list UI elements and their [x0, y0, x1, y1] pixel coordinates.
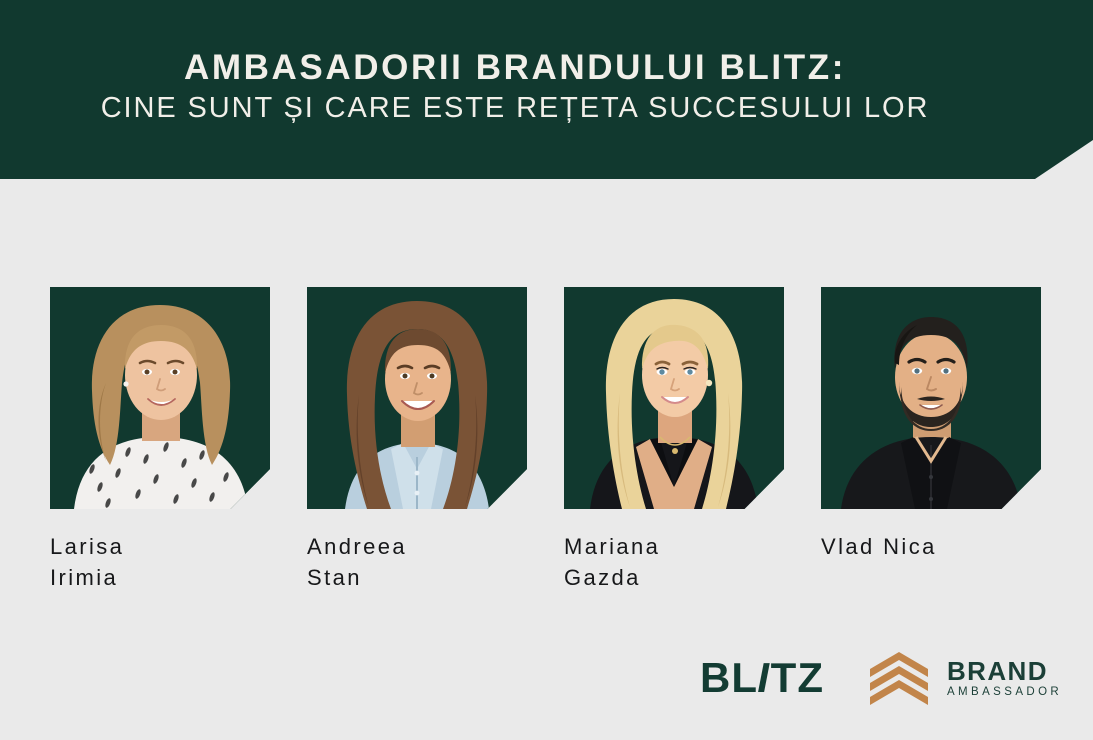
portrait-illustration-icon	[821, 287, 1041, 509]
portrait-illustration-icon	[50, 287, 270, 509]
portrait-illustration-icon	[564, 287, 784, 509]
ambassador-card-larisa-irimia[interactable]: Larisa Irimia	[50, 287, 270, 593]
blitz-logo[interactable]: BL I TZ	[700, 657, 824, 699]
ambassador-card-mariana-gazda[interactable]: Mariana Gazda	[564, 287, 784, 593]
ambassador-photo-andreea-stan	[307, 287, 527, 509]
ambassador-photo-vlad-nica	[821, 287, 1041, 509]
footer-logo-group: BL I TZ BRAND AMBASSADOR	[700, 650, 1062, 706]
ambassador-card-vlad-nica[interactable]: Vlad Nica	[821, 287, 1041, 593]
brand-ambassador-line-2: AMBASSADOR	[947, 687, 1062, 699]
page-subtitle: CINE SUNT ȘI CARE ESTE REȚETA SUCCESULUI…	[101, 94, 930, 123]
header-text-block: AMBASADORII BRANDULUI BLITZ: CINE SUNT Ș…	[0, 0, 1030, 179]
ambassador-card-andreea-stan[interactable]: Andreea Stan	[307, 287, 527, 593]
brand-ambassador-wordmark: BRAND AMBASSADOR	[947, 658, 1062, 699]
brand-ambassador-logo[interactable]: BRAND AMBASSADOR	[868, 650, 1062, 706]
ambassador-name: Vlad Nica	[821, 531, 1041, 562]
ambassador-name: Andreea Stan	[307, 531, 527, 593]
blitz-logo-part-1: BL	[700, 657, 758, 699]
ambassador-name: Mariana Gazda	[564, 531, 784, 593]
portrait-illustration-icon	[307, 287, 527, 509]
ambassador-name: Larisa Irimia	[50, 531, 270, 593]
ambassadors-row: Larisa Irimia	[50, 287, 1043, 593]
triple-chevron-icon	[868, 650, 930, 706]
blitz-logo-part-3: TZ	[771, 657, 824, 699]
poster-canvas: AMBASADORII BRANDULUI BLITZ: CINE SUNT Ș…	[0, 0, 1093, 740]
ambassador-photo-mariana-gazda	[564, 287, 784, 509]
ambassador-photo-larisa-irimia	[50, 287, 270, 509]
page-title: AMBASADORII BRANDULUI BLITZ:	[184, 50, 846, 85]
brand-ambassador-line-1: BRAND	[947, 658, 1062, 684]
